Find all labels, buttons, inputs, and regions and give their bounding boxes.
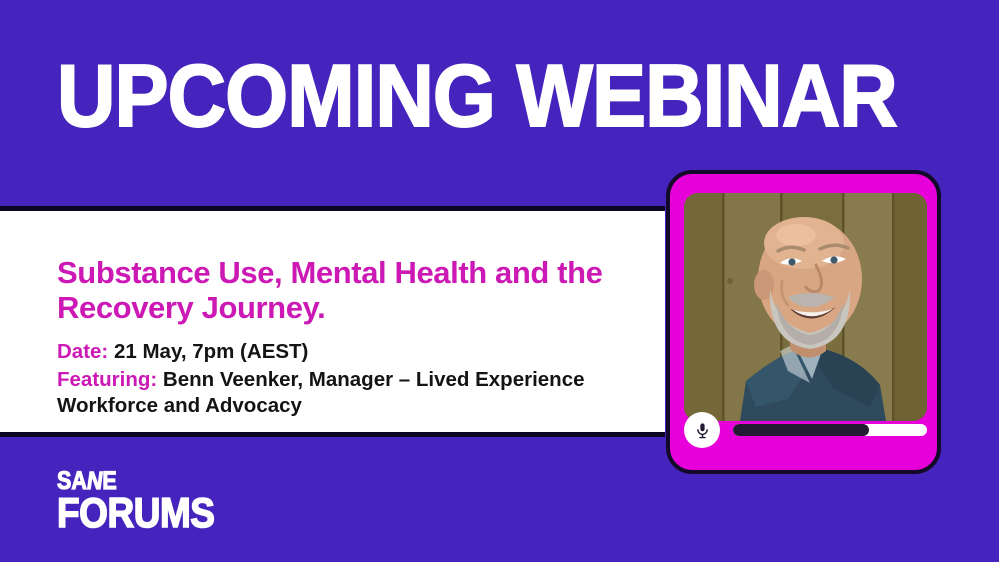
featuring-line: Featuring: Benn Veenker, Manager – Lived… — [57, 367, 657, 419]
webinar-promo-poster: UPCOMING WEBINAR Substance Use, Mental H… — [0, 0, 999, 562]
date-value: 21 May, 7pm (AEST) — [114, 340, 308, 363]
page-title: UPCOMING WEBINAR — [57, 52, 897, 140]
speaker-video-card[interactable] — [666, 170, 941, 474]
featuring-label: Featuring: — [57, 368, 157, 391]
info-band: Substance Use, Mental Health and the Rec… — [0, 206, 665, 437]
logo-forums-wordmark: FORUMS — [57, 493, 215, 533]
speaker-photo — [684, 193, 927, 421]
progress-bar-fill — [733, 424, 869, 436]
session-title: Substance Use, Mental Health and the Rec… — [57, 255, 647, 325]
date-line: Date: 21 May, 7pm (AEST) — [57, 339, 657, 365]
sane-forums-logo: SANE FORUMS — [57, 470, 236, 533]
microphone-button[interactable] — [684, 412, 720, 448]
date-label: Date: — [57, 340, 108, 363]
player-controls[interactable] — [684, 412, 927, 448]
microphone-icon — [694, 422, 711, 439]
progress-bar[interactable] — [733, 424, 927, 436]
session-meta: Date: 21 May, 7pm (AEST) Featuring: Benn… — [57, 339, 657, 419]
